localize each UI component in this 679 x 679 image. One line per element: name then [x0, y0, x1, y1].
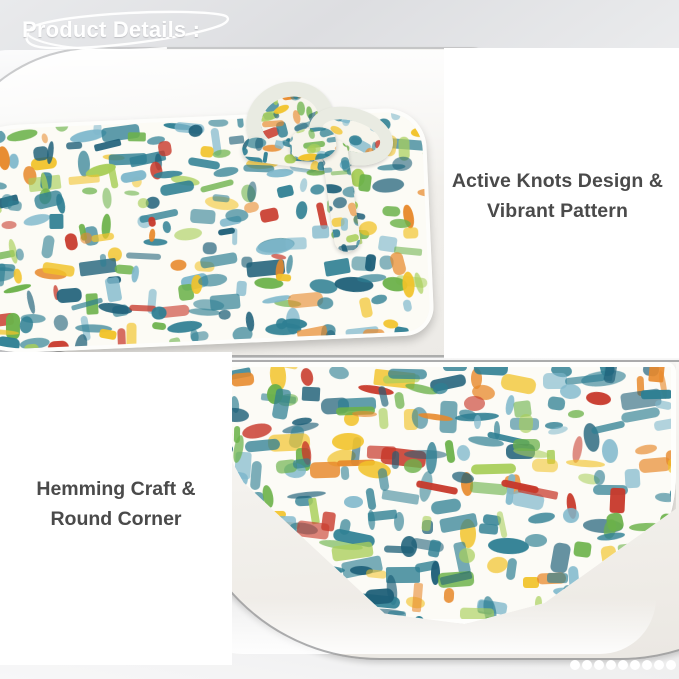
- pagination-dot[interactable]: [582, 660, 592, 670]
- bottom-caption-line1: Hemming Craft &: [0, 474, 232, 504]
- pagination-dots[interactable]: [570, 660, 674, 671]
- header-bar: Product Details :: [0, 0, 679, 58]
- pagination-dot[interactable]: [642, 660, 652, 670]
- knot-center-cinch: [288, 125, 338, 163]
- pagination-dot[interactable]: [618, 660, 628, 670]
- top-caption-line2: Vibrant Pattern: [444, 196, 671, 226]
- fabric-tie-knot: [232, 80, 422, 215]
- top-caption-text: Active Knots Design & Vibrant Pattern: [444, 166, 671, 226]
- bottom-caption-text: Hemming Craft & Round Corner: [0, 474, 232, 534]
- pagination-dot[interactable]: [570, 660, 580, 670]
- pagination-dot[interactable]: [630, 660, 640, 670]
- page-title: Product Details :: [22, 17, 200, 43]
- pagination-dot[interactable]: [654, 660, 664, 670]
- bottom-caption-panel: Hemming Craft & Round Corner: [0, 352, 232, 665]
- knot-center-fabric: [288, 125, 338, 163]
- pagination-dot[interactable]: [606, 660, 616, 670]
- product-details-infographic: Active Knots Design & Vibrant Pattern He…: [0, 0, 679, 679]
- pagination-dot[interactable]: [666, 660, 676, 670]
- pagination-dot[interactable]: [594, 660, 604, 670]
- top-caption-panel: Active Knots Design & Vibrant Pattern: [444, 48, 679, 358]
- bottom-caption-line2: Round Corner: [0, 504, 232, 534]
- page-title-group: Product Details :: [16, 10, 246, 54]
- top-caption-line1: Active Knots Design &: [444, 166, 671, 196]
